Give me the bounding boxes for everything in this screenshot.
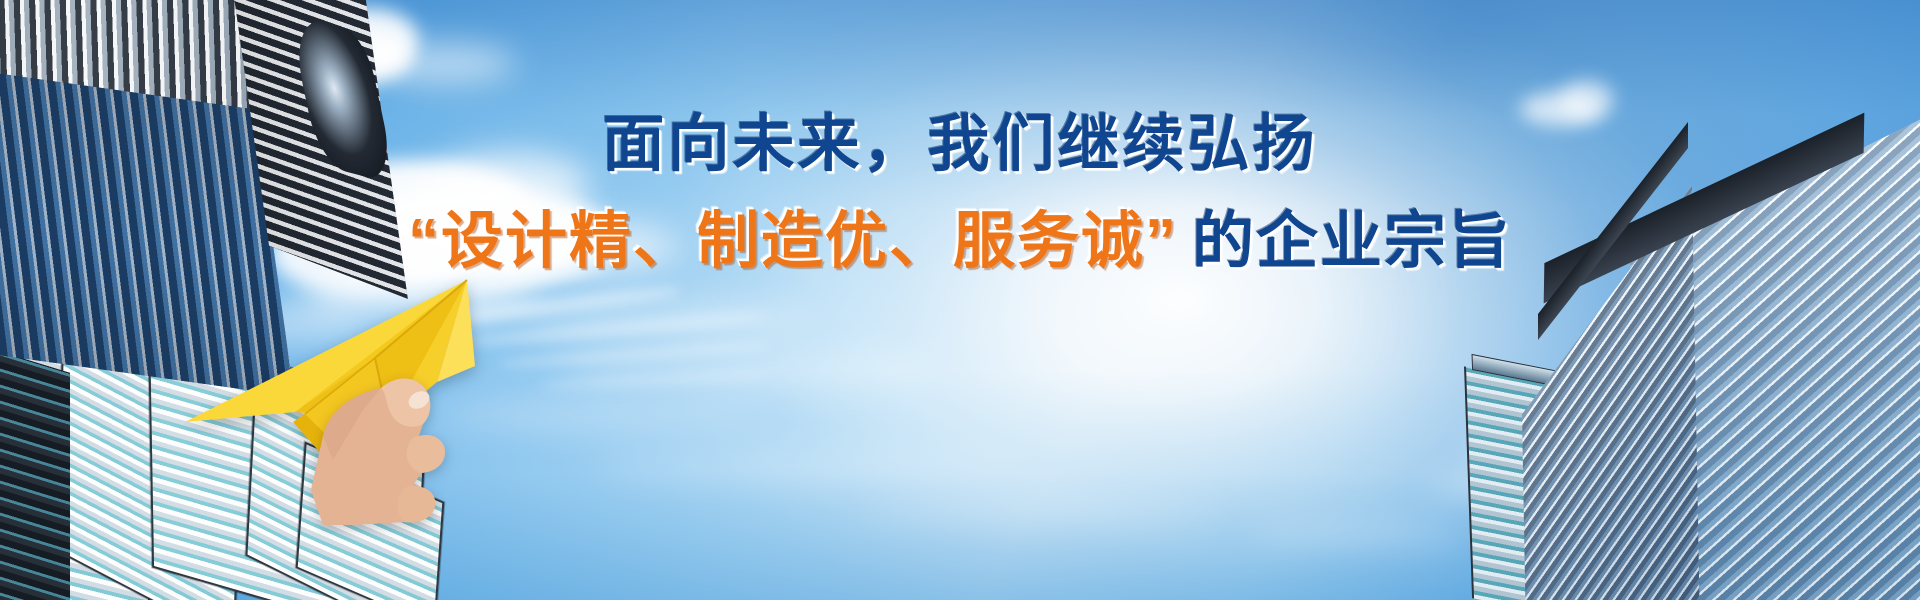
cloud: [430, 152, 590, 218]
cloud: [600, 452, 1020, 478]
paper-plane-and-hand: [175, 262, 525, 522]
right-glass-skyscraper: [1520, 100, 1920, 600]
hand-icon: [293, 340, 523, 525]
cloud: [1250, 520, 1470, 548]
hero-banner: 面向未来，我们继续弘扬 “设计精、制造优、服务诚”的企业宗旨: [0, 0, 1920, 600]
cloud: [860, 498, 1220, 522]
